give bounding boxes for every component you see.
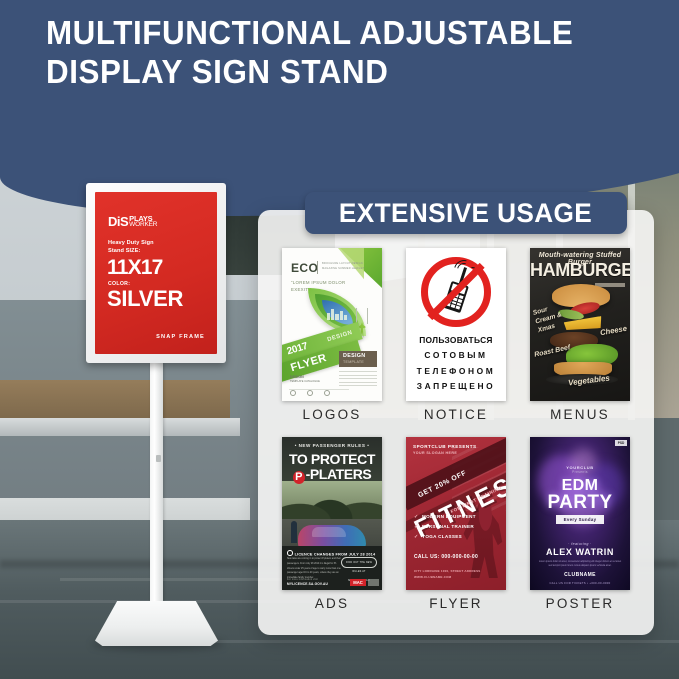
category-label-flyer: FLYER (429, 596, 483, 611)
snap-frame: DiS PLAYS WORKER Heavy Duty Sign Stand S… (86, 183, 226, 363)
mac-logo: MAC (350, 579, 366, 586)
category-label-notice: NOTICE (424, 407, 488, 422)
edm-cta: CALL US FOR TICKETS • +000-00-0000 (530, 581, 630, 585)
fitness-feature-2: PERSONAL TRAINER (414, 524, 476, 529)
government-logo (368, 579, 379, 586)
edm-featuring-label: · featuring · (530, 542, 630, 546)
notice-line-3: ТЕЛЕФОНОМ (406, 364, 506, 379)
circle-icon (290, 390, 296, 396)
eco-city-silhouette (326, 306, 348, 320)
poster-fitness-flyer: SPORTCLUB PRESENTS YOUR SLOGAN HERE GET … (406, 437, 506, 590)
eco-template-title: DESIGN (343, 353, 365, 359)
eco-footer-sub: TEMPLATE CATALOGUE (290, 380, 320, 385)
usage-cell-logos: ECO BROCHURE LAYOUT DESIGN MAGAZINE SUMM… (274, 248, 390, 431)
fitness-slogan: YOUR SLOGAN HERE (413, 451, 457, 455)
ads-person-photo (291, 521, 297, 543)
ads-headline-1: TO PROTECT (282, 451, 382, 467)
circle-icon (307, 390, 313, 396)
poster-road-safety-ad: • NEW PASSENGER RULES • TO PROTECT P-PLA… (282, 437, 382, 590)
burger-label-cheese: Cheese (599, 324, 627, 338)
circle-icon (324, 390, 330, 396)
burger-label-sour-cream: Sour Cream & Xmas (532, 300, 572, 336)
sign-subtitle: Heavy Duty Sign Stand SIZE: (108, 239, 154, 256)
notice-line-4: ЗАПРЕЩЕНО (406, 379, 506, 394)
fitness-kicker: SPORTCLUB PRESENTS (413, 444, 477, 449)
category-label-logos: LOGOS (302, 407, 361, 422)
fitness-feature-list: MODERN EQUIPMENT PERSONAL TRAINER YOGA C… (414, 514, 476, 544)
eco-design-template-box: DESIGN TEMPLATE (339, 351, 377, 367)
swing-rope (367, 308, 368, 324)
pole-adjust-knob (156, 455, 161, 462)
burger-title: HAMBURGER (530, 260, 630, 281)
fitness-feature-1: MODERN EQUIPMENT (414, 514, 476, 519)
edm-title-line2: PARTY (530, 492, 630, 514)
ads-footer-head-text: LICENCE CHANGES FROM JULY 28 2014 (295, 553, 376, 557)
ads-kicker: • NEW PASSENGER RULES • (282, 443, 382, 448)
eco-meta-text: BROCHURE LAYOUT DESIGN MAGAZINE SUMMER L… (322, 262, 366, 272)
category-label-menus: MENUS (550, 407, 610, 422)
usage-grid: ECO BROCHURE LAYOUT DESIGN MAGAZINE SUMM… (274, 248, 638, 620)
ads-headline-2: P-PLATERS (282, 466, 382, 484)
red-poster-insert: DiS PLAYS WORKER Heavy Duty Sign Stand S… (95, 192, 217, 354)
psd-tag: PSD (615, 440, 627, 446)
eco-footer: DESIGN TEMPLATE CATALOGUE (290, 374, 320, 385)
eco-title: ECO (291, 261, 318, 275)
ads-footer: LICENCE CHANGES FROM JULY 28 2014 New la… (282, 546, 382, 590)
floor-streak (180, 640, 679, 643)
info-dot-icon (287, 550, 293, 556)
category-label-poster: POSTER (546, 596, 615, 611)
fitness-address-line2: WWW.CLUBNAME.COM (414, 574, 480, 580)
sign-subtitle-line1: Heavy Duty Sign (108, 239, 154, 247)
poster-edm-party: PSD YOURCLUB Presents EDM PARTY Every Su… (530, 437, 630, 590)
sign-subtitle-line2: Stand SIZE: (108, 247, 154, 255)
notice-line-1: ПОЛЬЗОВАТЬСЯ (406, 333, 506, 348)
poster-notice-sign: ПОЛЬЗОВАТЬСЯ СОТОВЫМ ТЕЛЕФОНОМ ЗАПРЕЩЕНО (406, 248, 506, 401)
sign-size-value: 11X17 (107, 257, 163, 278)
edm-body-text: Lorem ipsum dolor sit amet, consectetur … (537, 560, 623, 569)
usage-cell-poster: PSD YOURCLUB Presents EDM PARTY Every Su… (522, 437, 638, 620)
usage-cell-flyer: SPORTCLUB PRESENTS YOUR SLOGAN HERE GET … (398, 437, 514, 620)
eco-template-sub: TEMPLATE (343, 360, 364, 364)
ads-url-label: For more information visit (287, 579, 328, 581)
logo-stack: PLAYS WORKER (129, 215, 157, 228)
title-line-1: MULTIFUNCTIONAL ADJUSTABLE (46, 14, 635, 53)
usage-cell-menus: Mouth-watering Stuffed Burger HAMBURGER … (522, 248, 638, 431)
poster-eco-flyer: ECO BROCHURE LAYOUT DESIGN MAGAZINE SUMM… (282, 248, 382, 401)
edm-club-name: CLUBNAME (530, 572, 630, 578)
logo-dis: DiS (108, 215, 128, 228)
stand-base (95, 601, 218, 646)
p-plate-badge: P (293, 471, 305, 484)
edm-ribbon: Every Sunday (556, 515, 604, 524)
snap-frame-label: SNAP FRAME (156, 334, 205, 340)
title-line-2: DISPLAY SIGN STAND (46, 53, 635, 92)
edm-presents: Presents (530, 470, 630, 474)
poster-hamburger-menu: Mouth-watering Stuffed Burger HAMBURGER … (530, 248, 630, 401)
fitness-feature-3: YOGA CLASSES (414, 534, 476, 539)
eco-text-lines (339, 371, 377, 389)
fitness-address: CITY LORRAINE 1000, STREET ADDRESS WWW.C… (414, 568, 480, 580)
eco-icon-row (290, 390, 330, 396)
ads-url: MYLICENCE.SA.GOV.AU (287, 582, 328, 586)
usage-cell-notice: ПОЛЬЗОВАТЬСЯ СОТОВЫМ ТЕЛЕФОНОМ ЗАПРЕЩЕНО… (398, 248, 514, 431)
badge-label: EXTENSIVE USAGE (339, 198, 592, 229)
logo-worker: WORKER (129, 222, 157, 228)
category-label-ads: ADS (315, 596, 349, 611)
eco-divider (317, 261, 318, 274)
fitness-call-us: CALL US: 000-000-00-00 (414, 554, 478, 560)
stand-pole (150, 363, 163, 608)
usage-cell-ads: • NEW PASSENGER RULES • TO PROTECT P-PLA… (274, 437, 390, 620)
sign-stand-product: DiS PLAYS WORKER Heavy Duty Sign Stand S… (70, 183, 250, 653)
page-title: MULTIFUNCTIONAL ADJUSTABLE DISPLAY SIGN … (46, 14, 635, 92)
ads-footer-body: New laws are coming in to protect P-plat… (287, 557, 343, 581)
edm-artist-name: ALEX WATRIN (530, 547, 630, 557)
displays-worker-logo: DiS PLAYS WORKER (108, 215, 157, 228)
notice-text-block: ПОЛЬЗОВАТЬСЯ СОТОВЫМ ТЕЛЕФОНОМ ЗАПРЕЩЕНО (406, 333, 506, 394)
header-banner: MULTIFUNCTIONAL ADJUSTABLE DISPLAY SIGN … (0, 0, 679, 108)
ads-headline-2-text: -PLATERS (306, 466, 372, 482)
ads-cta-pill: FIND OUT THE NEW RULES AT MAC.SA.GOV.AU (341, 557, 377, 568)
product-marketing-image: MULTIFUNCTIONAL ADJUSTABLE DISPLAY SIGN … (0, 0, 679, 679)
sign-color-value: SILVER (107, 288, 183, 310)
extensive-usage-badge: EXTENSIVE USAGE (305, 192, 627, 234)
no-mobile-phone-icon (421, 257, 491, 327)
ads-url-block: For more information visitMYLICENCE.SA.G… (287, 579, 328, 586)
ads-footer-head: LICENCE CHANGES FROM JULY 28 2014 (287, 550, 375, 557)
notice-line-2: СОТОВЫМ (406, 348, 506, 363)
